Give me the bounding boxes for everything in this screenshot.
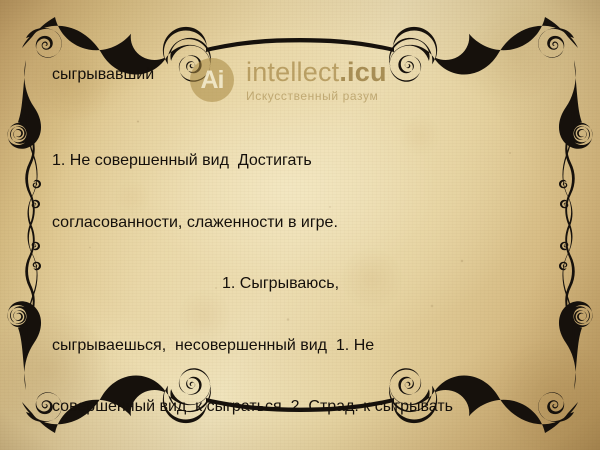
definition-block: 1. Не совершенный вид Достигать согласов…: [52, 110, 552, 450]
definition-line: согласованности, слаженности в игре.: [52, 213, 552, 234]
dictionary-article: сыгрывавший 1. Не совершенный вид Достиг…: [52, 66, 552, 450]
definition-line: 1. Сыгрываюсь,: [52, 274, 552, 295]
definition-line: 1. Не совершенный вид Достигать: [52, 151, 552, 172]
definition-line: сыгрываешься, несовершенный вид 1. Не: [52, 336, 552, 357]
parchment-page: Ai intellect.icu Искусственный разум сыг…: [0, 0, 600, 450]
definition-line: совершенный вид к сыграться. 2. Страд. к…: [52, 397, 552, 418]
headword: сыгрывавший: [52, 66, 552, 84]
